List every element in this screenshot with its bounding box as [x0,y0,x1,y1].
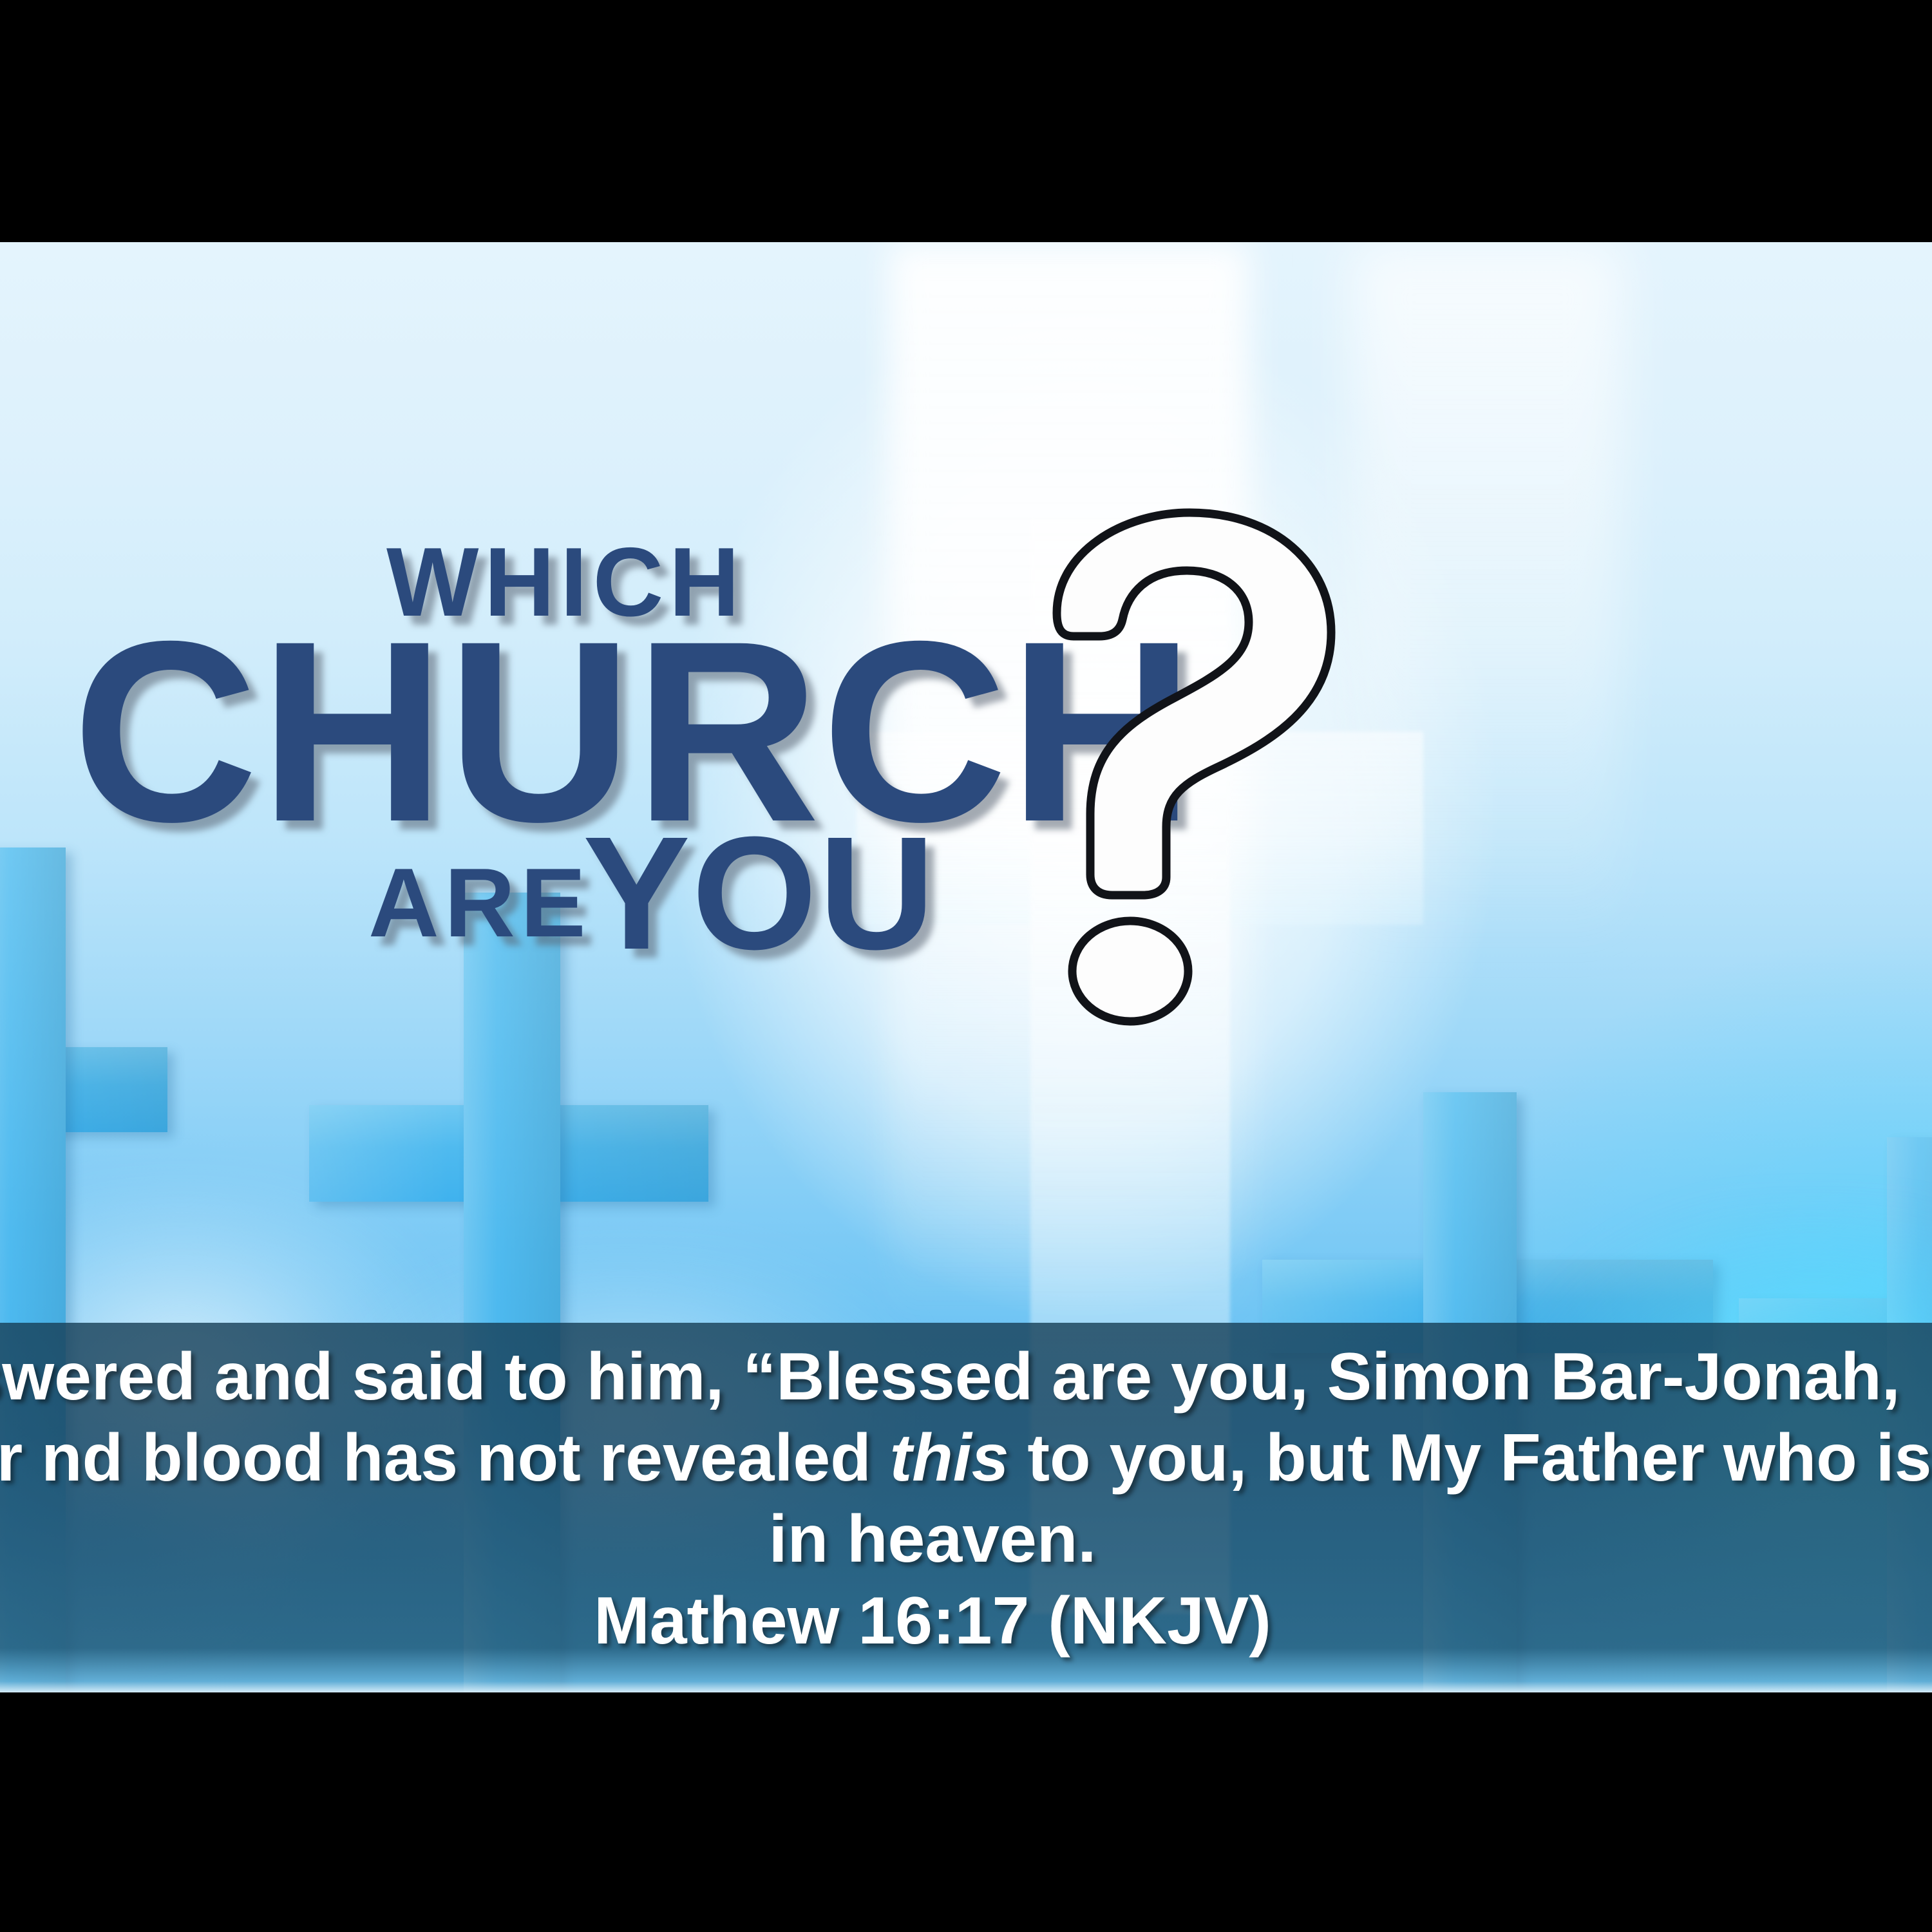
letterbox-top-bar [0,0,1932,242]
caption-line-2a: nd blood has not revealed [41,1421,890,1495]
scripture-caption-band: swered and said to him, “Blessed are you… [0,1323,1932,1692]
title-line-are: ARE [368,854,591,952]
letterbox-bottom-bar [0,1692,1932,1932]
scripture-caption-text: swered and said to him, “Blessed are you… [0,1337,1932,1662]
sermon-slide-image: WHICH CHURCH ARE YOU swered and said to … [0,242,1932,1692]
haze-right-glow [1352,242,1623,951]
slide-viewer: WHICH CHURCH ARE YOU swered and said to … [0,0,1932,1932]
scripture-reference: Mathew 16:17 (NKJV) [0,1581,1932,1662]
caption-line-3: heaven. [847,1502,1096,1577]
question-mark-icon [1014,493,1349,1041]
cross-crossbar [309,1105,708,1202]
caption-emphasis-this: this [890,1421,1009,1495]
title-line-you: YOU [583,813,936,974]
cross-crossbar [0,1047,167,1132]
